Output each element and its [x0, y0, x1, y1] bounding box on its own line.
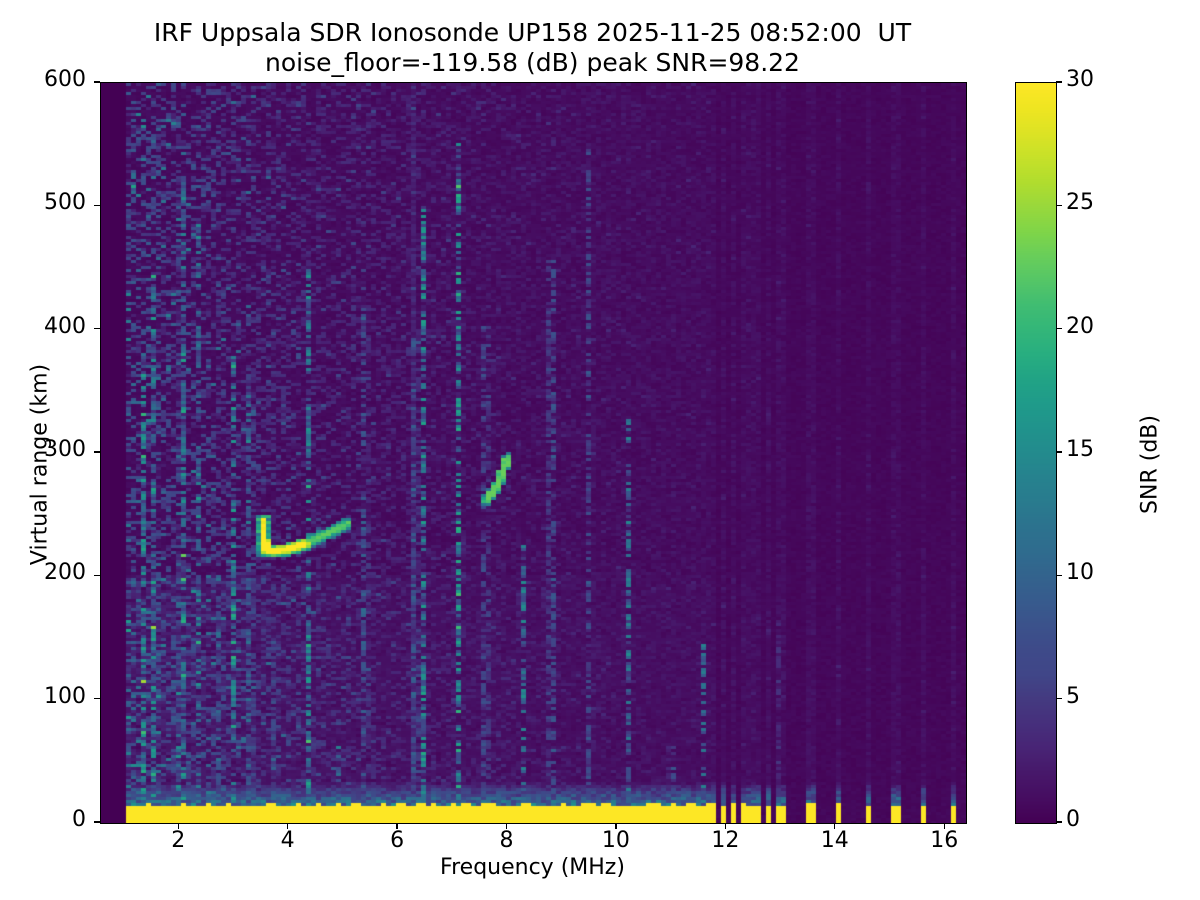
- ionogram-figure: IRF Uppsala SDR Ionosonde UP158 2025-11-…: [0, 0, 1200, 900]
- colorbar-label: SNR (dB): [1138, 315, 1163, 615]
- x-tick-label: 6: [390, 828, 404, 853]
- colorbar-tick-label: 20: [1066, 314, 1094, 339]
- x-tick-label: 12: [711, 828, 739, 853]
- y-tick-label: 400: [0, 314, 86, 339]
- x-tick-label: 8: [500, 828, 514, 853]
- colorbar-tick-label: 0: [1066, 807, 1080, 832]
- y-tick-label: 500: [0, 190, 86, 215]
- y-tick-label: 100: [0, 684, 86, 709]
- title-line-primary: IRF Uppsala SDR Ionosonde UP158 2025-11-…: [0, 18, 1065, 48]
- colorbar-tick-mark: [1056, 698, 1062, 699]
- colorbar-tick-mark: [1056, 205, 1062, 206]
- colorbar-tick-label: 5: [1066, 684, 1080, 709]
- y-tick-label: 300: [0, 437, 86, 462]
- y-tick-mark: [94, 205, 100, 206]
- x-tick-label: 10: [602, 828, 630, 853]
- colorbar-tick-label: 15: [1066, 437, 1094, 462]
- figure-title: IRF Uppsala SDR Ionosonde UP158 2025-11-…: [0, 18, 1065, 78]
- colorbar-tick-label: 25: [1066, 190, 1094, 215]
- x-axis-label: Frequency (MHz): [100, 855, 965, 880]
- colorbar-tick-mark: [1056, 451, 1062, 452]
- y-tick-mark: [94, 575, 100, 576]
- y-tick-label: 0: [0, 807, 86, 832]
- plot-area: [100, 82, 967, 824]
- x-tick-label: 2: [171, 828, 185, 853]
- colorbar-tick-mark: [1056, 821, 1062, 822]
- x-tick-label: 16: [930, 828, 958, 853]
- y-tick-label: 600: [0, 67, 86, 92]
- title-line-secondary: noise_floor=-119.58 (dB) peak SNR=98.22: [0, 48, 1065, 78]
- y-tick-mark: [94, 81, 100, 82]
- y-tick-mark: [94, 451, 100, 452]
- x-tick-label: 14: [821, 828, 849, 853]
- x-tick-label: 4: [281, 828, 295, 853]
- colorbar-tick-mark: [1056, 575, 1062, 576]
- y-tick-label: 200: [0, 560, 86, 585]
- y-tick-mark: [94, 328, 100, 329]
- colorbar-tick-label: 10: [1066, 560, 1094, 585]
- y-tick-mark: [94, 821, 100, 822]
- colorbar-tick-mark: [1056, 328, 1062, 329]
- colorbar-gradient: [1016, 83, 1056, 823]
- y-tick-mark: [94, 698, 100, 699]
- ionogram-heatmap: [101, 83, 966, 823]
- colorbar-tick-mark: [1056, 81, 1062, 82]
- colorbar-tick-label: 30: [1066, 67, 1094, 92]
- colorbar: [1015, 82, 1057, 824]
